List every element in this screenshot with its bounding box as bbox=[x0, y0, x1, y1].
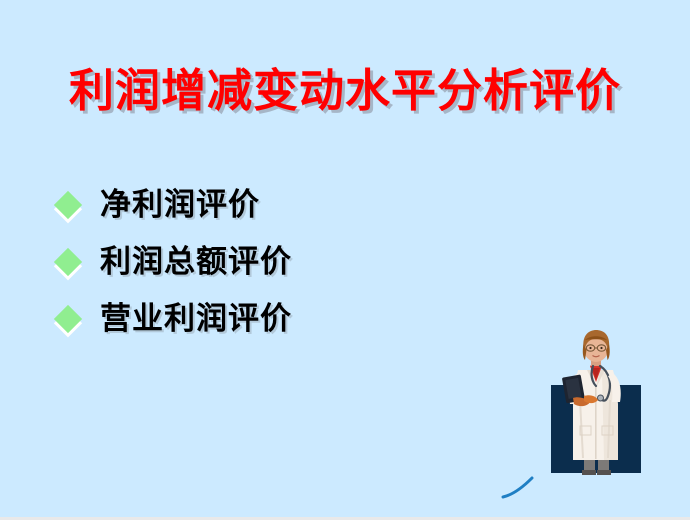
doctor-figure-svg bbox=[540, 330, 690, 490]
list-item-label: 利润总额评价 bbox=[90, 243, 292, 281]
list-item[interactable]: 净利润评价 bbox=[52, 176, 472, 233]
bullet-list: 净利润评价 利润总额评价 营业利润评价 bbox=[52, 176, 472, 347]
page-title: 利润增减变动水平分析评价 bbox=[0, 63, 690, 119]
green-diamond-icon bbox=[52, 304, 90, 334]
green-diamond-icon bbox=[52, 190, 90, 220]
blue-swoosh-mark bbox=[498, 473, 546, 505]
list-item[interactable]: 营业利润评价 bbox=[52, 290, 472, 347]
female-doctor-illustration bbox=[540, 330, 690, 490]
slide-canvas: 利润增减变动水平分析评价 净利润评价 利润总额评价 营业利润评价 bbox=[0, 0, 690, 517]
list-item[interactable]: 利润总额评价 bbox=[52, 233, 472, 290]
list-item-label: 净利润评价 bbox=[90, 186, 260, 224]
list-item-label: 营业利润评价 bbox=[90, 300, 292, 338]
green-diamond-icon bbox=[52, 247, 90, 277]
